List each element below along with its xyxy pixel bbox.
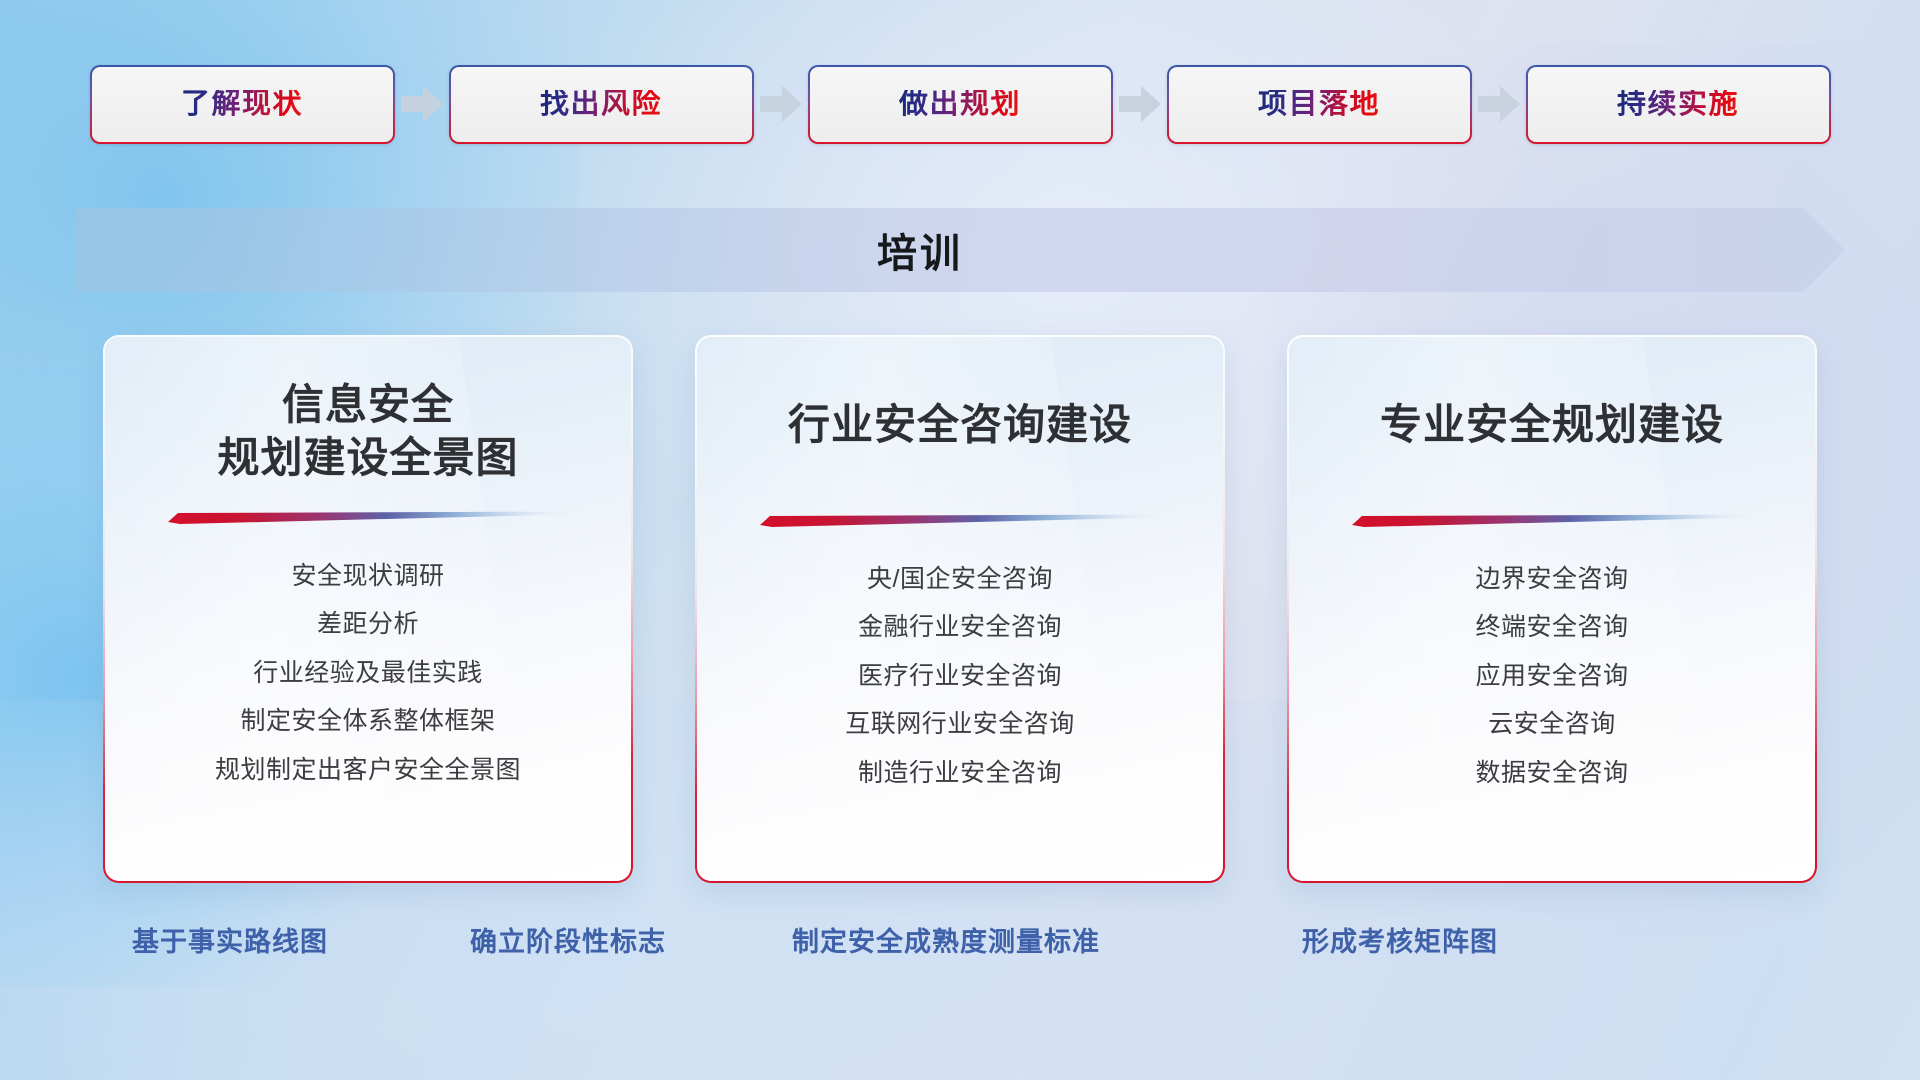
list-item: 规划制定出客户安全全景图 [215, 752, 521, 790]
list-item: 边界安全咨询 [1475, 561, 1628, 599]
list-item: 安全现状调研 [291, 558, 444, 596]
process-step-body: 项目落地 [1169, 67, 1470, 142]
bottom-label-2: 确立阶段性标志 [470, 920, 666, 959]
service-card-body: 专业安全规划建设 边界安全咨询终端安全咨询应用安全咨询云安全咨询数据安全咨询 [1289, 337, 1815, 881]
chevron-right-arrow-icon [754, 65, 808, 144]
process-step-label: 找出风险 [540, 90, 662, 119]
banner-title: 培训 [75, 208, 1765, 292]
service-card-list: 安全现状调研差距分析行业经验及最佳实践制定安全体系整体框架规划制定出客户安全全景… [105, 524, 631, 790]
service-card-3[interactable]: 专业安全规划建设 边界安全咨询终端安全咨询应用安全咨询云安全咨询数据安全咨询 [1287, 335, 1817, 883]
process-step-1[interactable]: 了解现状 [90, 65, 395, 144]
service-card-body: 信息安全 规划建设全景图 安全现状调研差距分析行业经验及最佳实践制定安全体系整体… [105, 337, 631, 881]
process-step-body: 了解现状 [92, 67, 393, 142]
process-step-2[interactable]: 找出风险 [449, 65, 754, 144]
list-item: 央/国企安全咨询 [867, 561, 1053, 599]
service-card-title: 专业安全规划建设 [1289, 337, 1815, 452]
bottom-labels-row: 基于事实路线图确立阶段性标志制定安全成熟度测量标准形成考核矩阵图 [0, 920, 1920, 966]
list-item: 云安全咨询 [1488, 706, 1616, 744]
slide-stage: 了解现状 找出风险 做出规划 项目落地 持续实施 培训 信息 [0, 0, 1920, 1080]
list-item: 金融行业安全咨询 [858, 609, 1062, 647]
process-step-label: 持续实施 [1617, 90, 1739, 119]
chevron-right-arrow-icon [1472, 65, 1526, 144]
list-item: 行业经验及最佳实践 [253, 655, 483, 693]
gradient-underline-icon [168, 511, 568, 524]
list-item: 差距分析 [317, 606, 419, 644]
bottom-label-4: 形成考核矩阵图 [1302, 920, 1498, 959]
gradient-underline-icon [1352, 514, 1752, 527]
process-step-label: 了解现状 [181, 90, 303, 119]
process-step-label: 做出规划 [899, 90, 1021, 119]
chevron-right-arrow-icon [395, 65, 449, 144]
process-step-3[interactable]: 做出规划 [808, 65, 1113, 144]
bottom-label-1: 基于事实路线图 [132, 920, 328, 959]
training-banner: 培训 [75, 208, 1845, 292]
service-card-list: 央/国企安全咨询金融行业安全咨询医疗行业安全咨询互联网行业安全咨询制造行业安全咨… [697, 527, 1223, 793]
bottom-label-3: 制定安全成熟度测量标准 [792, 920, 1100, 959]
card-divider-wrap [105, 511, 631, 524]
cards-row: 信息安全 规划建设全景图 安全现状调研差距分析行业经验及最佳实践制定安全体系整体… [0, 335, 1920, 885]
process-step-5[interactable]: 持续实施 [1526, 65, 1831, 144]
list-item: 终端安全咨询 [1475, 609, 1628, 647]
process-step-body: 做出规划 [810, 67, 1111, 142]
service-card-1[interactable]: 信息安全 规划建设全景图 安全现状调研差距分析行业经验及最佳实践制定安全体系整体… [103, 335, 633, 883]
process-steps-row: 了解现状 找出风险 做出规划 项目落地 持续实施 [0, 62, 1920, 146]
gradient-underline-icon [760, 514, 1160, 527]
process-step-label: 项目落地 [1258, 90, 1380, 119]
process-step-body: 找出风险 [451, 67, 752, 142]
list-item: 制造行业安全咨询 [858, 755, 1062, 793]
service-card-title: 行业安全咨询建设 [697, 337, 1223, 452]
list-item: 医疗行业安全咨询 [858, 658, 1062, 696]
list-item: 互联网行业安全咨询 [845, 706, 1075, 744]
chevron-right-arrow-icon [1113, 65, 1167, 144]
process-step-body: 持续实施 [1528, 67, 1829, 142]
card-divider-wrap [697, 514, 1223, 527]
list-item: 数据安全咨询 [1475, 755, 1628, 793]
service-card-2[interactable]: 行业安全咨询建设 央/国企安全咨询金融行业安全咨询医疗行业安全咨询互联网行业安全… [695, 335, 1225, 883]
list-item: 制定安全体系整体框架 [240, 703, 495, 741]
card-divider-wrap [1289, 514, 1815, 527]
service-card-body: 行业安全咨询建设 央/国企安全咨询金融行业安全咨询医疗行业安全咨询互联网行业安全… [697, 337, 1223, 881]
service-card-list: 边界安全咨询终端安全咨询应用安全咨询云安全咨询数据安全咨询 [1289, 527, 1815, 793]
process-step-4[interactable]: 项目落地 [1167, 65, 1472, 144]
service-card-title: 信息安全 规划建设全景图 [105, 337, 631, 485]
list-item: 应用安全咨询 [1475, 658, 1628, 696]
